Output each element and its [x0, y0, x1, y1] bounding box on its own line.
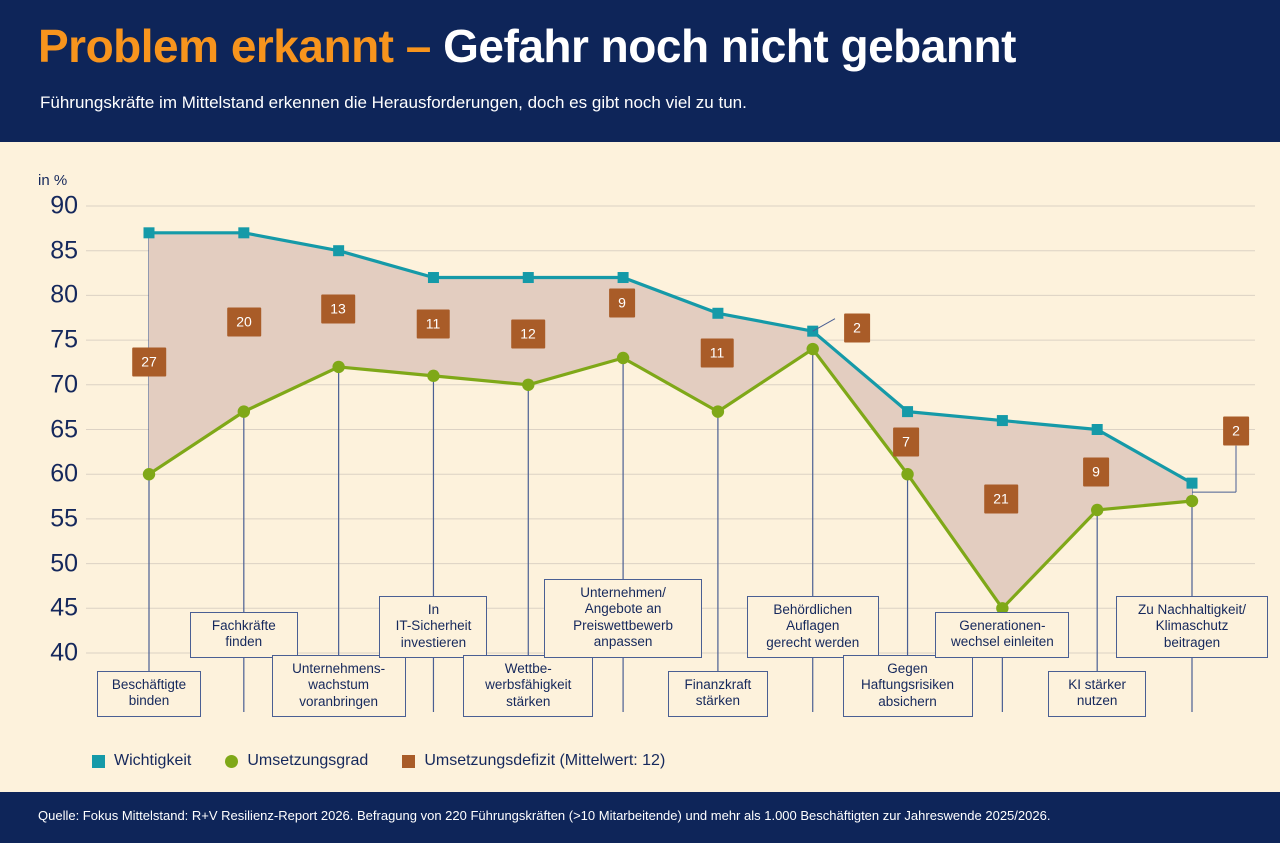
data-point-marker: [238, 227, 249, 238]
infographic-page: Problem erkannt – Gefahr noch nicht geba…: [0, 0, 1280, 843]
category-label-box: KI stärker nutzen: [1048, 671, 1146, 717]
deficit-badge: 2: [1223, 417, 1249, 446]
source-note: Quelle: Fokus Mittelstand: R+V Resilienz…: [38, 808, 1050, 823]
legend-label: Umsetzungsdefizit (Mittelwert: 12): [424, 752, 665, 770]
category-label-box: Finanzkraft stärken: [668, 671, 768, 717]
data-point-marker: [1092, 424, 1103, 435]
category-label-box: In IT-Sicherheit investieren: [379, 596, 487, 658]
data-point-marker: [1091, 504, 1103, 516]
category-label-box: Unternehmen/ Angebote an Preiswettbewerb…: [544, 579, 702, 658]
category-label-box: Generationen- wechsel einleiten: [935, 612, 1069, 658]
legend-swatch-square-icon: [92, 755, 105, 768]
y-tick-label: 75: [30, 326, 78, 355]
deficit-area: [149, 233, 1192, 608]
deficit-badge: 13: [321, 294, 355, 323]
title-accent: Problem erkannt –: [38, 20, 431, 72]
legend-label: Wichtigkeit: [114, 752, 191, 770]
y-tick-label: 80: [30, 281, 78, 310]
deficit-badge: 9: [609, 288, 635, 317]
category-label-box: Beschäftigte binden: [97, 671, 201, 717]
deficit-badge: 11: [701, 338, 734, 367]
y-tick-label: 45: [30, 594, 78, 623]
legend-swatch-circle-icon: [225, 755, 238, 768]
data-point-marker: [1187, 478, 1198, 489]
data-point-marker: [618, 272, 629, 283]
data-point-marker: [997, 415, 1008, 426]
category-label-box: Zu Nachhaltigkeit/ Klimaschutz beitragen: [1116, 596, 1268, 658]
badge-leader-line: [813, 319, 835, 332]
data-point-marker: [901, 468, 913, 480]
data-point-marker: [807, 343, 819, 355]
data-point-marker: [144, 227, 155, 238]
data-point-marker: [617, 352, 629, 364]
y-tick-label: 65: [30, 415, 78, 444]
deficit-badge: 21: [984, 485, 1018, 514]
data-point-marker: [902, 406, 913, 417]
deficit-badge: 2: [844, 313, 870, 342]
legend-item: Umsetzungsdefizit (Mittelwert: 12): [402, 752, 665, 770]
legend-swatch-square-icon: [402, 755, 415, 768]
y-tick-label: 90: [30, 192, 78, 221]
category-label-box: Unternehmens- wachstum voranbringen: [272, 655, 406, 717]
category-label-box: Gegen Haftungsrisiken absichern: [843, 655, 973, 717]
y-tick-label: 40: [30, 639, 78, 668]
data-point-marker: [332, 361, 344, 373]
deficit-badge: 12: [511, 319, 545, 348]
data-point-marker: [1186, 495, 1198, 507]
legend-item: Wichtigkeit: [92, 752, 191, 770]
data-point-marker: [427, 370, 439, 382]
legend-label: Umsetzungsgrad: [247, 752, 368, 770]
category-label-box: Fachkräfte finden: [190, 612, 298, 658]
data-point-marker: [143, 468, 155, 480]
chart-panel: in % 9085807570656055504540 272013111291…: [0, 142, 1280, 792]
deficit-badge: 27: [132, 348, 166, 377]
title-rest: Gefahr noch nicht gebannt: [431, 20, 1016, 72]
footer-band: Quelle: Fokus Mittelstand: R+V Resilienz…: [0, 792, 1280, 843]
category-label-box: Wettbe- werbsfähigkeit stärken: [463, 655, 593, 717]
y-tick-label: 85: [30, 236, 78, 265]
data-point-marker: [523, 272, 534, 283]
data-point-marker: [712, 405, 724, 417]
deficit-badge: 9: [1083, 457, 1109, 486]
data-point-marker: [712, 308, 723, 319]
data-point-marker: [238, 405, 250, 417]
category-label-box: Behördlichen Auflagen gerecht werden: [747, 596, 879, 658]
header-band: Problem erkannt – Gefahr noch nicht geba…: [0, 0, 1280, 142]
y-tick-label: 50: [30, 549, 78, 578]
y-tick-label: 55: [30, 504, 78, 533]
page-title: Problem erkannt – Gefahr noch nicht geba…: [38, 22, 1016, 70]
data-point-marker: [333, 245, 344, 256]
page-subtitle: Führungskräfte im Mittelstand erkennen d…: [40, 93, 747, 113]
deficit-badge: 11: [417, 310, 450, 339]
data-point-marker: [428, 272, 439, 283]
deficit-badge: 20: [227, 308, 261, 337]
data-point-marker: [522, 379, 534, 391]
y-tick-label: 60: [30, 460, 78, 489]
chart-legend: WichtigkeitUmsetzungsgradUmsetzungsdefiz…: [92, 752, 665, 770]
deficit-badge: 7: [893, 428, 919, 457]
y-tick-label: 70: [30, 370, 78, 399]
legend-item: Umsetzungsgrad: [225, 752, 368, 770]
